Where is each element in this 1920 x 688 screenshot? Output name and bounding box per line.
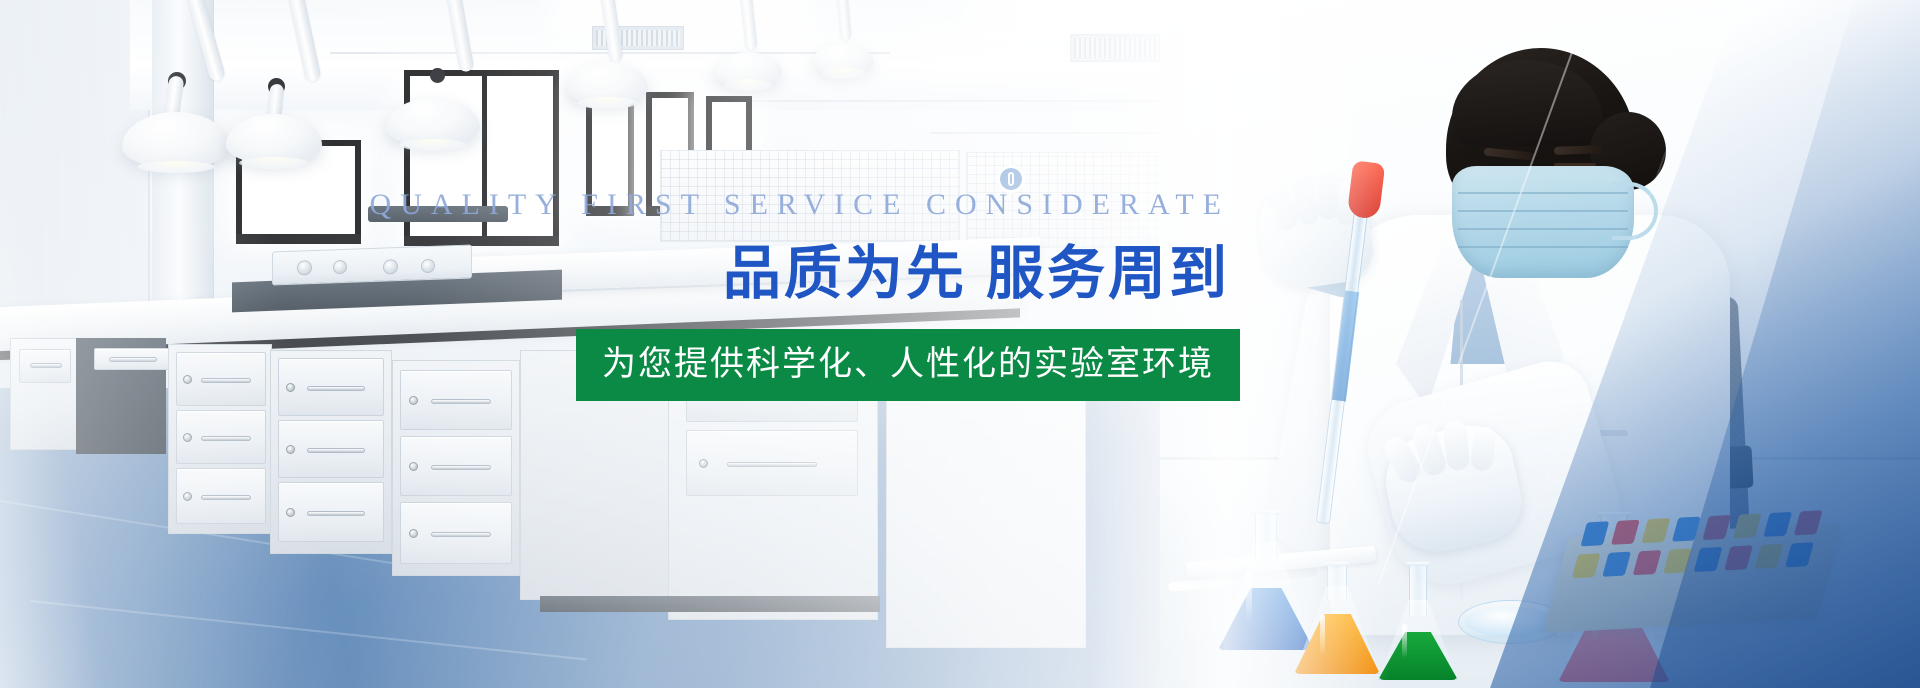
lab-drawer-a3 <box>176 468 266 524</box>
flask-orange <box>1294 562 1380 674</box>
hero-banner: QUALITY FIRST SERVICE CONSIDERATE 品质为先 服… <box>0 0 1920 688</box>
lab-drawer-a2 <box>176 410 266 464</box>
pendant-lamp-6 <box>812 44 874 74</box>
flask-green <box>1378 562 1458 680</box>
banner-copy-block: QUALITY FIRST SERVICE CONSIDERATE 品质为先 服… <box>0 190 1240 401</box>
lab-drawer-c3 <box>400 502 512 564</box>
english-tagline: QUALITY FIRST SERVICE CONSIDERATE <box>0 190 1240 220</box>
banner-subtitle: 为您提供科学化、人性化的实验室环境 <box>602 343 1214 386</box>
lab-drawer-b2 <box>278 420 384 478</box>
ceiling-seam-2 <box>700 100 1230 102</box>
technician-brow-right <box>1554 145 1602 155</box>
lab-island-drawer-2 <box>686 430 858 496</box>
lamp-joint-3 <box>430 68 445 83</box>
subtitle-green-bar: 为您提供科学化、人性化的实验室环境 <box>576 329 1240 402</box>
technician-photo-scene <box>1160 0 1920 688</box>
pendant-lamp-5 <box>714 52 782 86</box>
safety-sign-icon <box>1000 168 1022 190</box>
lab-drawer-b3 <box>278 482 384 542</box>
lab-kickplate-shadow <box>540 596 880 612</box>
lab-drawer-c2 <box>400 436 512 496</box>
ceiling-light-panel-1 <box>560 0 800 26</box>
technician-face-mask <box>1452 166 1634 278</box>
pipette-bulb <box>1347 160 1386 219</box>
banner-headline: 品质为先 服务周到 <box>0 242 1240 307</box>
